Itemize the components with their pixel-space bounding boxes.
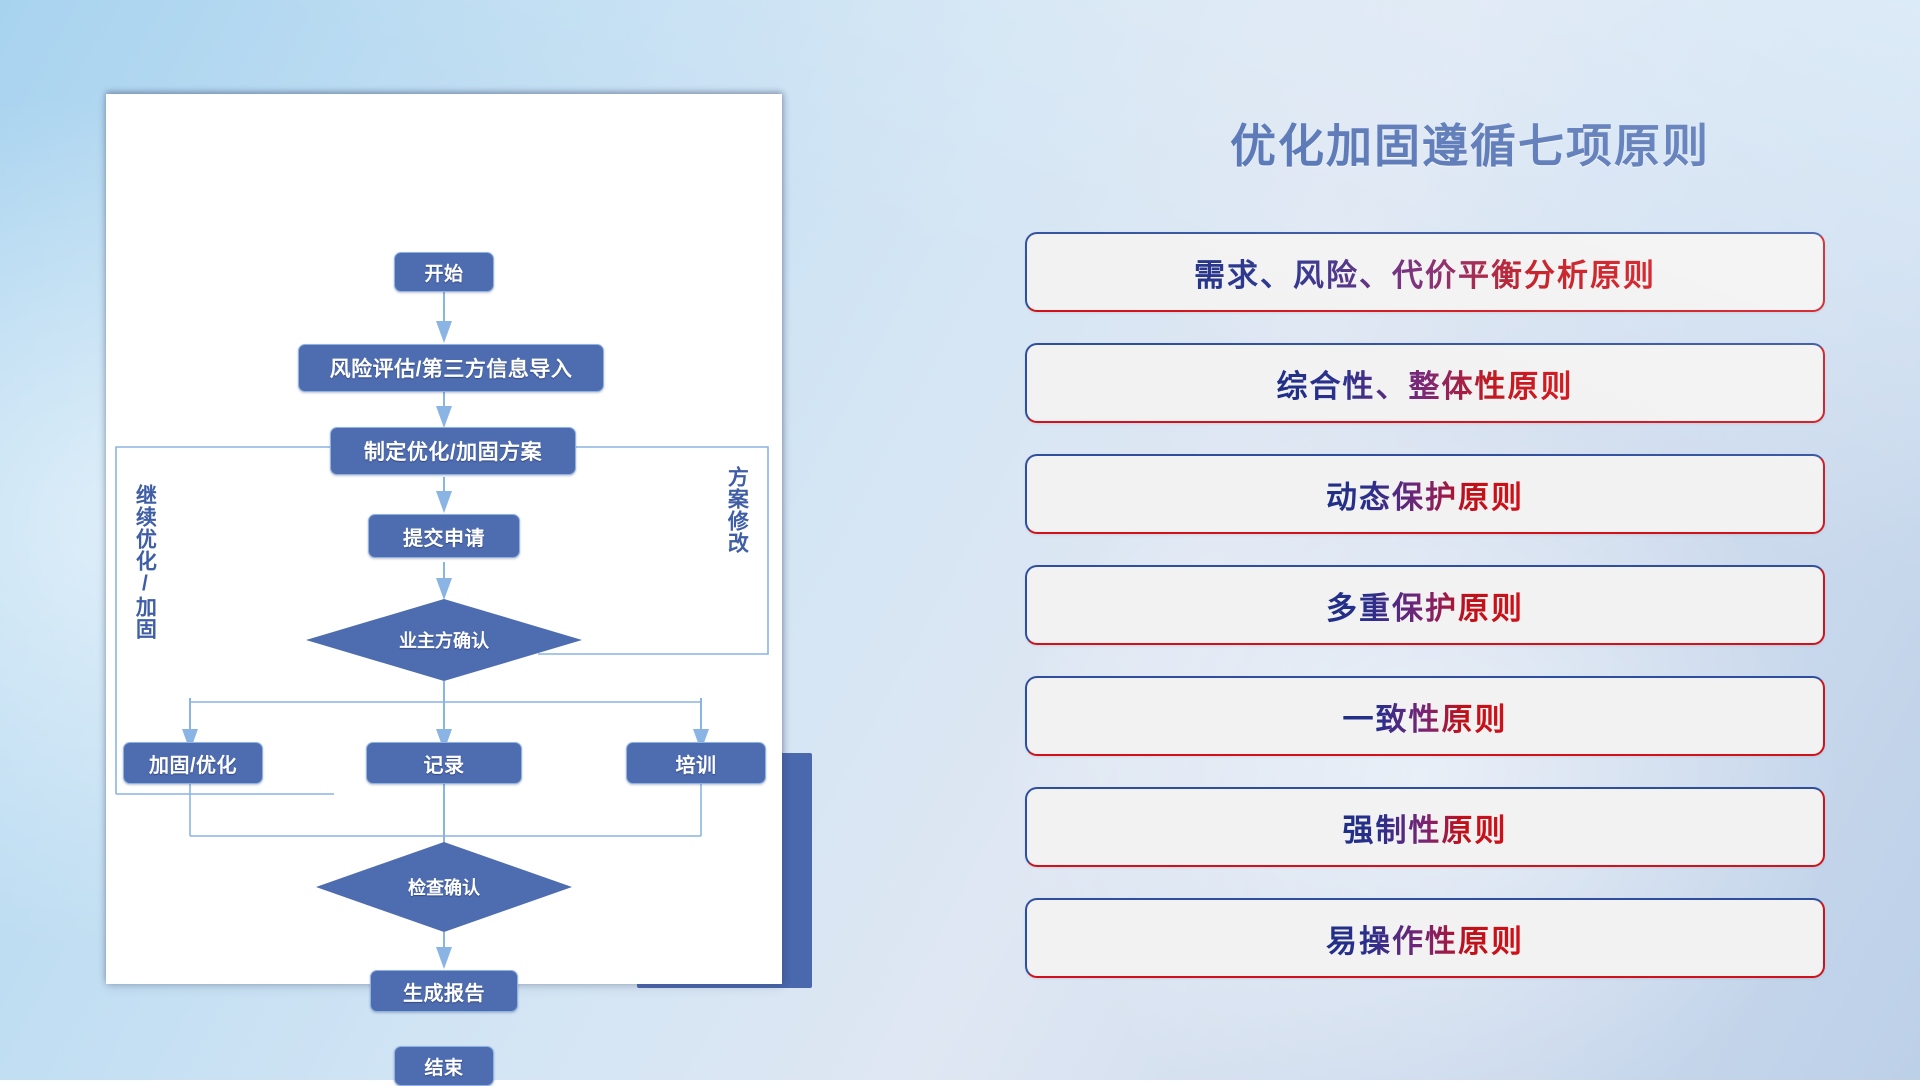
principle-card-label: 多重保护原则 (1326, 583, 1524, 628)
principle-card[interactable]: 一致性原则 (1025, 676, 1825, 756)
principle-card[interactable]: 动态保护原则 (1025, 454, 1825, 534)
principle-card-label: 动态保护原则 (1326, 472, 1524, 517)
flow-node-label: 业主方确认 (399, 627, 489, 653)
flow-node-training[interactable]: 培训 (626, 742, 766, 784)
flow-node-label: 加固/优化 (149, 749, 237, 778)
flowchart: 开始 风险评估/第三方信息导入 制定优化/加固方案 提交申请 业主方确认 加固/… (106, 94, 782, 984)
principle-card-label: 易操作性原则 (1326, 916, 1524, 961)
principle-card[interactable]: 需求、风险、代价平衡分析原则 (1025, 232, 1825, 312)
flow-node-start[interactable]: 开始 (394, 252, 494, 292)
principles-title: 优化加固遵循七项原则 (1020, 110, 1920, 176)
edge-label-plan-revision: 方案修改 (726, 466, 747, 554)
flow-node-report[interactable]: 生成报告 (370, 970, 518, 1012)
flow-node-label: 记录 (424, 749, 465, 778)
flow-node-label: 风险评估/第三方信息导入 (330, 353, 573, 383)
slide-canvas: 开始 风险评估/第三方信息导入 制定优化/加固方案 提交申请 业主方确认 加固/… (0, 0, 1920, 1080)
principle-card[interactable]: 多重保护原则 (1025, 565, 1825, 645)
principle-card[interactable]: 强制性原则 (1025, 787, 1825, 867)
flow-node-label: 培训 (676, 749, 717, 778)
principle-card-label: 综合性、整体性原则 (1277, 361, 1574, 406)
flow-node-risk-assessment[interactable]: 风险评估/第三方信息导入 (298, 344, 604, 392)
flow-node-reinforce[interactable]: 加固/优化 (123, 742, 263, 784)
principles-card-list: 需求、风险、代价平衡分析原则 综合性、整体性原则 动态保护原则 多重保护原则 一… (1025, 232, 1825, 1009)
flow-node-label: 生成报告 (403, 977, 485, 1006)
principle-card[interactable]: 易操作性原则 (1025, 898, 1825, 978)
principle-card[interactable]: 综合性、整体性原则 (1025, 343, 1825, 423)
flow-node-end[interactable]: 结束 (394, 1046, 494, 1086)
flow-node-label: 开始 (424, 259, 463, 286)
principle-card-label: 需求、风险、代价平衡分析原则 (1194, 250, 1656, 295)
flow-node-plan[interactable]: 制定优化/加固方案 (330, 427, 576, 475)
principle-card-label: 强制性原则 (1343, 805, 1508, 850)
flow-node-submit[interactable]: 提交申请 (368, 514, 520, 558)
flow-node-label: 结束 (424, 1053, 463, 1080)
flow-node-record[interactable]: 记录 (366, 742, 522, 784)
flow-node-label: 制定优化/加固方案 (364, 436, 542, 466)
principle-card-label: 一致性原则 (1343, 694, 1508, 739)
flowchart-paper: 开始 风险评估/第三方信息导入 制定优化/加固方案 提交申请 业主方确认 加固/… (106, 94, 782, 984)
edge-label-continue-optimize: 继续优化/加固 (134, 484, 155, 640)
principles-panel: 优化加固遵循七项原则 需求、风险、代价平衡分析原则 综合性、整体性原则 动态保护… (1020, 0, 1920, 1080)
flow-node-label: 提交申请 (403, 522, 485, 551)
flow-node-check-confirm[interactable]: 检查确认 (316, 842, 572, 932)
flow-node-owner-confirm[interactable]: 业主方确认 (306, 599, 582, 681)
flow-node-label: 检查确认 (408, 874, 480, 900)
